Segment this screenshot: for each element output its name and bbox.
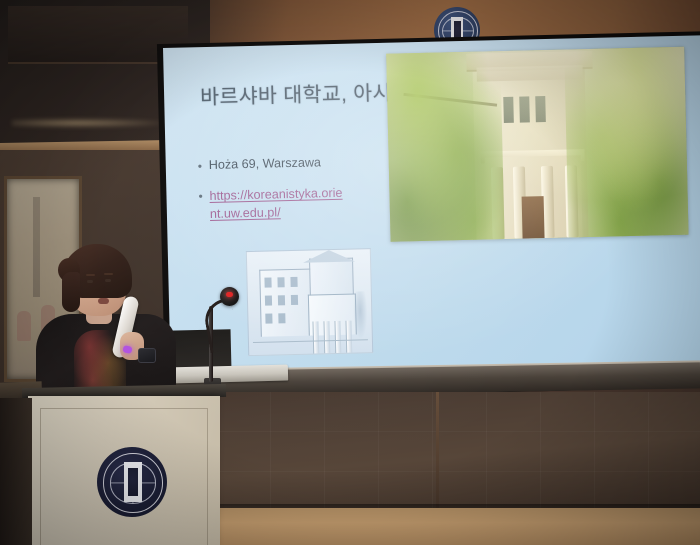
sketch-window [265,296,272,306]
sketch-window [291,295,298,305]
sketch-pediment [303,250,355,263]
presentation-slide: 바르샤바 대학교, 아시아-아프리카 문화학부, 한국학과 • Hoża 69,… [163,35,700,392]
sketch-tree [353,291,368,339]
university-emblem-icon [97,447,167,517]
lectern-side-panel [0,398,32,545]
bullet-link-wrap: https://koreanistyka.orie nt.uw.edu.pl/ [209,184,343,223]
speaker-eyebrow [86,274,95,276]
sketch-column [334,321,341,353]
wall-light-reflection [12,118,172,128]
artwork-figure [17,311,31,341]
speaker-eyebrow [104,273,113,275]
list-item: • https://koreanistyka.orie nt.uw.edu.pl… [198,182,409,223]
laptop [168,365,288,384]
sketch-column [323,321,330,353]
building-sketch-image [246,248,373,356]
slide-bullet-list: • Hoża 69, Warszawa • https://koreanisty… [198,152,410,236]
speaker-person [34,236,184,406]
projection-screen: 바르샤바 대학교, 아시아-아프리카 문화학부, 한국학과 • Hoża 69,… [163,35,700,396]
sketch-window [290,277,297,287]
website-link-line1[interactable]: https://koreanistyka.orie [209,186,342,203]
photograph-scene: 바르샤바 대학교, 아시아-아프리카 문화학부, 한국학과 • Hoża 69,… [0,0,700,545]
wall-seam [436,392,439,522]
bullet-marker: • [198,187,209,204]
list-item: • Hoża 69, Warszawa [198,152,408,174]
sketch-column [345,321,352,353]
sketch-window [265,313,272,323]
speaker-hair-side [62,272,80,312]
sketch-column [312,321,319,353]
photo-sunlight-glare [386,47,688,242]
building-photo-image [386,47,688,242]
sketch-window [277,277,284,287]
sketch-window [278,295,285,305]
emblem-monogram-inner [128,468,138,496]
speaker-mouth [98,298,109,304]
sketch-window [278,313,285,323]
website-link-line2[interactable]: nt.uw.edu.pl/ [210,205,281,221]
speaker-eye [105,279,111,282]
speaker-eye [87,280,93,283]
microphone-led-indicator [226,292,233,297]
bullet-marker: • [198,157,209,174]
sketch-window [264,278,271,288]
speaker-smartwatch [138,348,156,363]
bullet-text-address: Hoża 69, Warszawa [209,154,322,174]
